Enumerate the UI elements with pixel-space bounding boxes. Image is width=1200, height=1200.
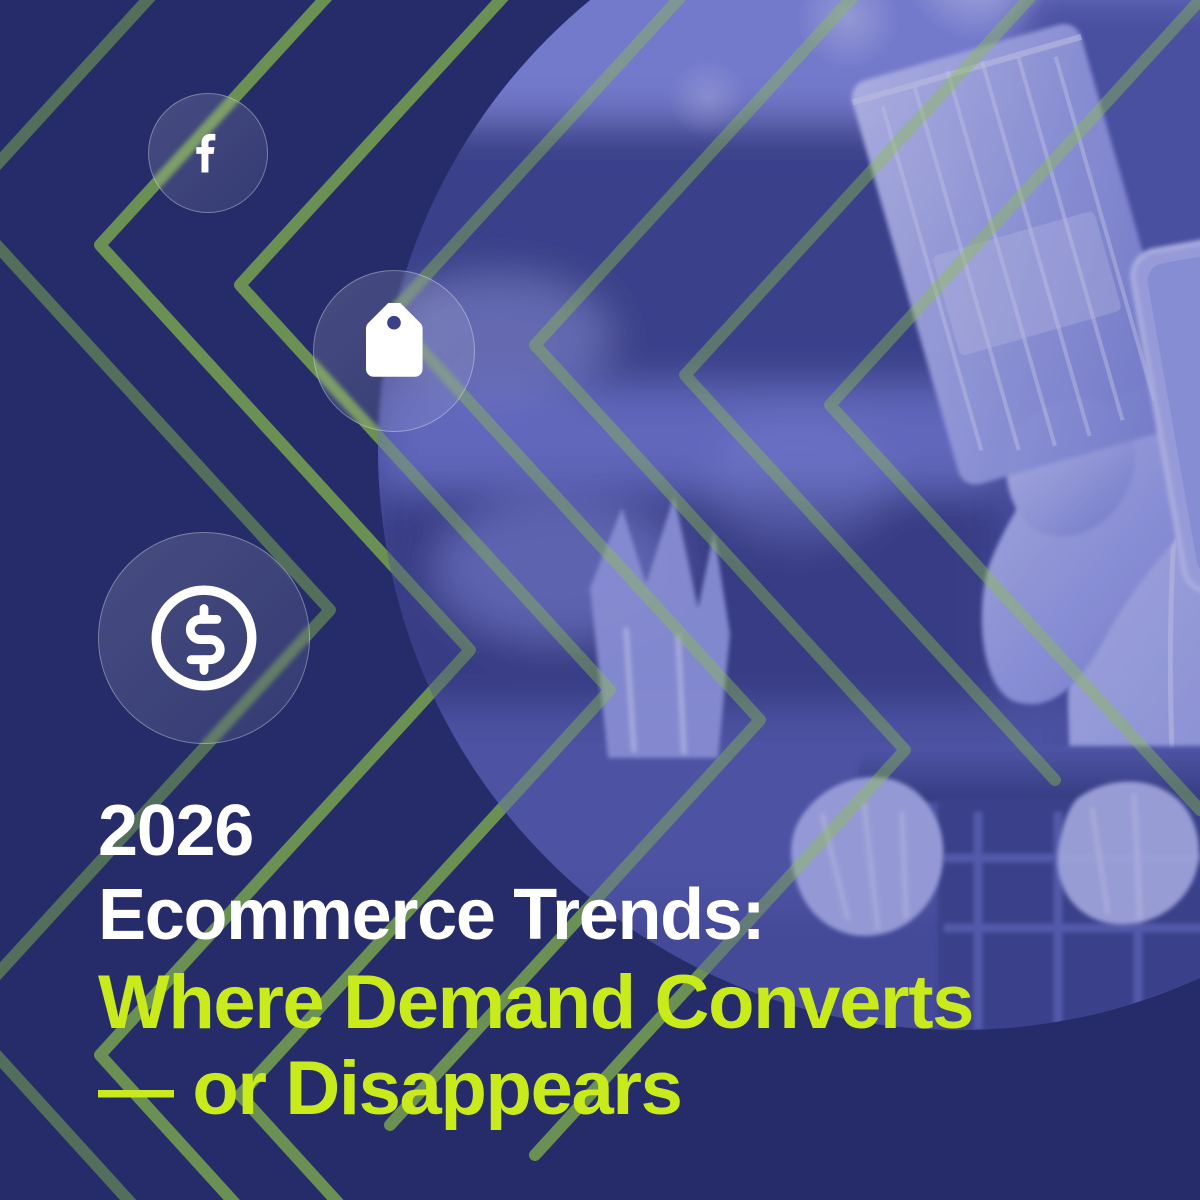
headline-year: 2026 (98, 795, 1108, 867)
price-tag-badge[interactable] (313, 270, 475, 432)
headline-subject: Ecommerce Trends: (98, 879, 1108, 951)
headline-block: 2026 Ecommerce Trends: Where Demand Conv… (98, 795, 1108, 1127)
price-tag-icon (346, 303, 442, 399)
dollar-circle-icon (142, 576, 266, 700)
headline-accent-first: Where Demand Converts (98, 965, 1108, 1041)
facebook-badge[interactable] (148, 93, 268, 213)
headline-accent-second: — or Disappears (98, 1051, 1108, 1127)
dollar-badge[interactable] (98, 532, 310, 744)
facebook-icon (182, 127, 234, 179)
poster-canvas: 2026 Ecommerce Trends: Where Demand Conv… (0, 0, 1200, 1200)
